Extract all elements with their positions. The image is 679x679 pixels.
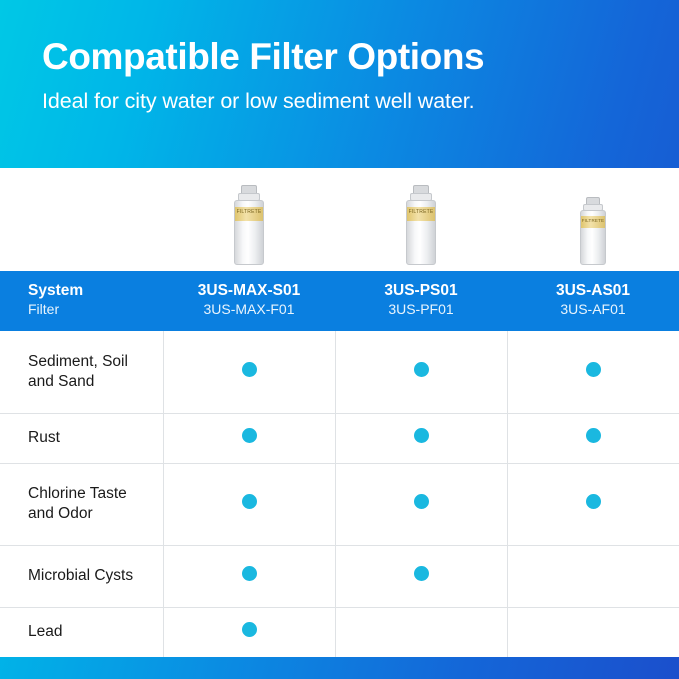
- product-image-cell-3: FILTRETE: [507, 168, 679, 271]
- table-row: Sediment, Soil and Sand: [0, 331, 679, 413]
- check-dot-icon: [586, 428, 601, 443]
- filter-model-3: 3US-AF01: [507, 301, 679, 318]
- check-dot-icon: [414, 362, 429, 377]
- page-subtitle: Ideal for city water or low sediment wel…: [42, 89, 639, 114]
- filter-model-2: 3US-PF01: [335, 301, 507, 318]
- water-filter-cartridge-icon: FILTRETE: [406, 185, 436, 265]
- product-image-row: FILTRETE FILTRETE: [0, 168, 679, 271]
- product-image-cell-2: FILTRETE: [335, 168, 507, 271]
- cartridge-brand-text: FILTRETE: [235, 209, 263, 215]
- mark-cell-r3c2: [507, 545, 679, 607]
- mark-cell-r4c1: [335, 607, 507, 657]
- feature-label: Microbial Cysts: [0, 545, 163, 607]
- mark-cell-r3c1: [335, 545, 507, 607]
- model-header-cell-2: 3US-PS01 3US-PF01: [335, 271, 507, 331]
- mark-cell-r0c0: [163, 331, 335, 413]
- table-body: Sediment, Soil and Sand Rust Chlorine Ta…: [0, 331, 679, 657]
- filter-model-1: 3US-MAX-F01: [163, 301, 335, 318]
- feature-label: Chlorine Taste and Odor: [0, 463, 163, 545]
- feature-label: Rust: [0, 413, 163, 463]
- check-dot-icon: [414, 428, 429, 443]
- feature-label: Sediment, Soil and Sand: [0, 331, 163, 413]
- feature-label: Lead: [0, 607, 163, 657]
- check-dot-icon: [586, 362, 601, 377]
- cartridge-brand-text: FILTRETE: [407, 209, 435, 215]
- model-header-cell-3: 3US-AS01 3US-AF01: [507, 271, 679, 331]
- mark-cell-r3c0: [163, 545, 335, 607]
- empty-mark: [586, 622, 601, 637]
- product-image-cell-1: FILTRETE: [163, 168, 335, 271]
- check-dot-icon: [242, 622, 257, 637]
- empty-mark: [414, 622, 429, 637]
- check-dot-icon: [242, 566, 257, 581]
- table-row: Chlorine Taste and Odor: [0, 463, 679, 545]
- table-row: Lead: [0, 607, 679, 657]
- mark-cell-r0c1: [335, 331, 507, 413]
- system-header-label: System: [28, 282, 163, 301]
- mark-cell-r2c1: [335, 463, 507, 545]
- mark-cell-r4c0: [163, 607, 335, 657]
- mark-cell-r0c2: [507, 331, 679, 413]
- page-root: Compatible Filter Options Ideal for city…: [0, 0, 679, 679]
- mark-cell-r2c0: [163, 463, 335, 545]
- mark-cell-r1c2: [507, 413, 679, 463]
- system-model-3: 3US-AS01: [507, 282, 679, 301]
- system-filter-header-cell: System Filter: [0, 271, 163, 331]
- check-dot-icon: [414, 494, 429, 509]
- empty-mark: [586, 566, 601, 581]
- system-model-1: 3US-MAX-S01: [163, 282, 335, 301]
- mark-cell-r1c1: [335, 413, 507, 463]
- page-title: Compatible Filter Options: [42, 36, 639, 77]
- cartridge-brand-text: FILTRETE: [581, 218, 605, 223]
- water-filter-cartridge-icon: FILTRETE: [580, 197, 606, 265]
- compatible-filters-table: FILTRETE FILTRETE: [0, 168, 679, 657]
- filter-header-label: Filter: [28, 301, 163, 318]
- check-dot-icon: [414, 566, 429, 581]
- mark-cell-r2c2: [507, 463, 679, 545]
- check-dot-icon: [242, 362, 257, 377]
- mark-cell-r4c2: [507, 607, 679, 657]
- image-row-spacer: [0, 168, 163, 271]
- model-header-cell-1: 3US-MAX-S01 3US-MAX-F01: [163, 271, 335, 331]
- system-model-2: 3US-PS01: [335, 282, 507, 301]
- table-header-row: System Filter 3US-MAX-S01 3US-MAX-F01 3U…: [0, 271, 679, 331]
- comparison-table-card: FILTRETE FILTRETE: [0, 168, 679, 657]
- water-filter-cartridge-icon: FILTRETE: [234, 185, 264, 265]
- check-dot-icon: [586, 494, 601, 509]
- mark-cell-r1c0: [163, 413, 335, 463]
- check-dot-icon: [242, 428, 257, 443]
- table-row: Microbial Cysts: [0, 545, 679, 607]
- table-row: Rust: [0, 413, 679, 463]
- header-banner: Compatible Filter Options Ideal for city…: [0, 0, 679, 168]
- check-dot-icon: [242, 494, 257, 509]
